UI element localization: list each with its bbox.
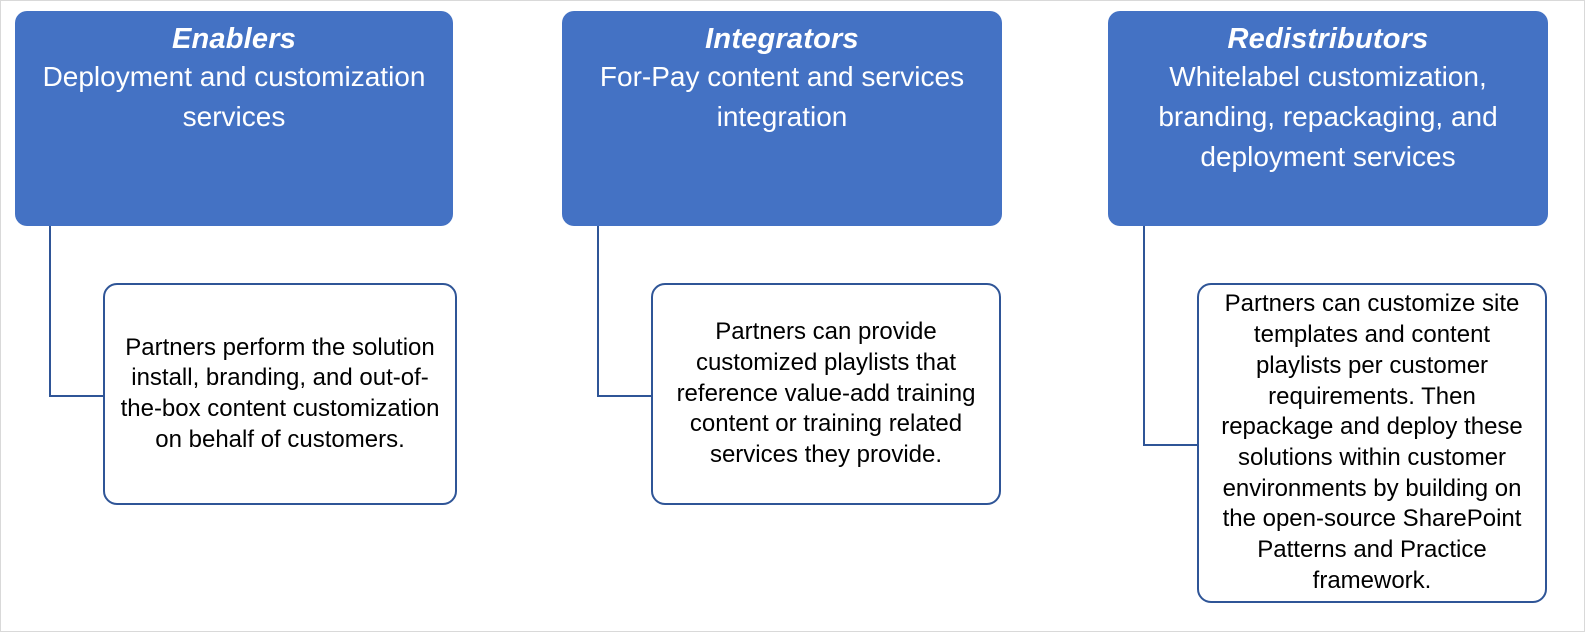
diagram-canvas: Enablers Deployment and customization se… [0, 0, 1585, 632]
connector-redistributors [1143, 226, 1199, 446]
detail-box-redistributors[interactable]: Partners can customize site templates an… [1197, 283, 1547, 603]
connector-integrators [597, 226, 653, 397]
detail-text-redistributors: Partners can customize site templates an… [1213, 289, 1531, 596]
header-box-enablers[interactable]: Enablers Deployment and customization se… [15, 11, 453, 226]
detail-text-enablers: Partners perform the solution install, b… [119, 333, 441, 456]
detail-box-integrators[interactable]: Partners can provide customized playlist… [651, 283, 1001, 505]
detail-box-enablers[interactable]: Partners perform the solution install, b… [103, 283, 457, 505]
header-subtitle-integrators: For-Pay content and services integration [574, 57, 990, 137]
header-subtitle-enablers: Deployment and customization services [27, 57, 441, 137]
header-box-redistributors[interactable]: Redistributors Whitelabel customization,… [1108, 11, 1548, 226]
header-title-enablers: Enablers [172, 21, 296, 57]
header-title-integrators: Integrators [705, 21, 859, 57]
header-box-integrators[interactable]: Integrators For-Pay content and services… [562, 11, 1002, 226]
header-subtitle-redistributors: Whitelabel customization, branding, repa… [1120, 57, 1536, 176]
detail-text-integrators: Partners can provide customized playlist… [667, 317, 985, 471]
connector-enablers [49, 226, 105, 397]
header-title-redistributors: Redistributors [1228, 21, 1429, 57]
